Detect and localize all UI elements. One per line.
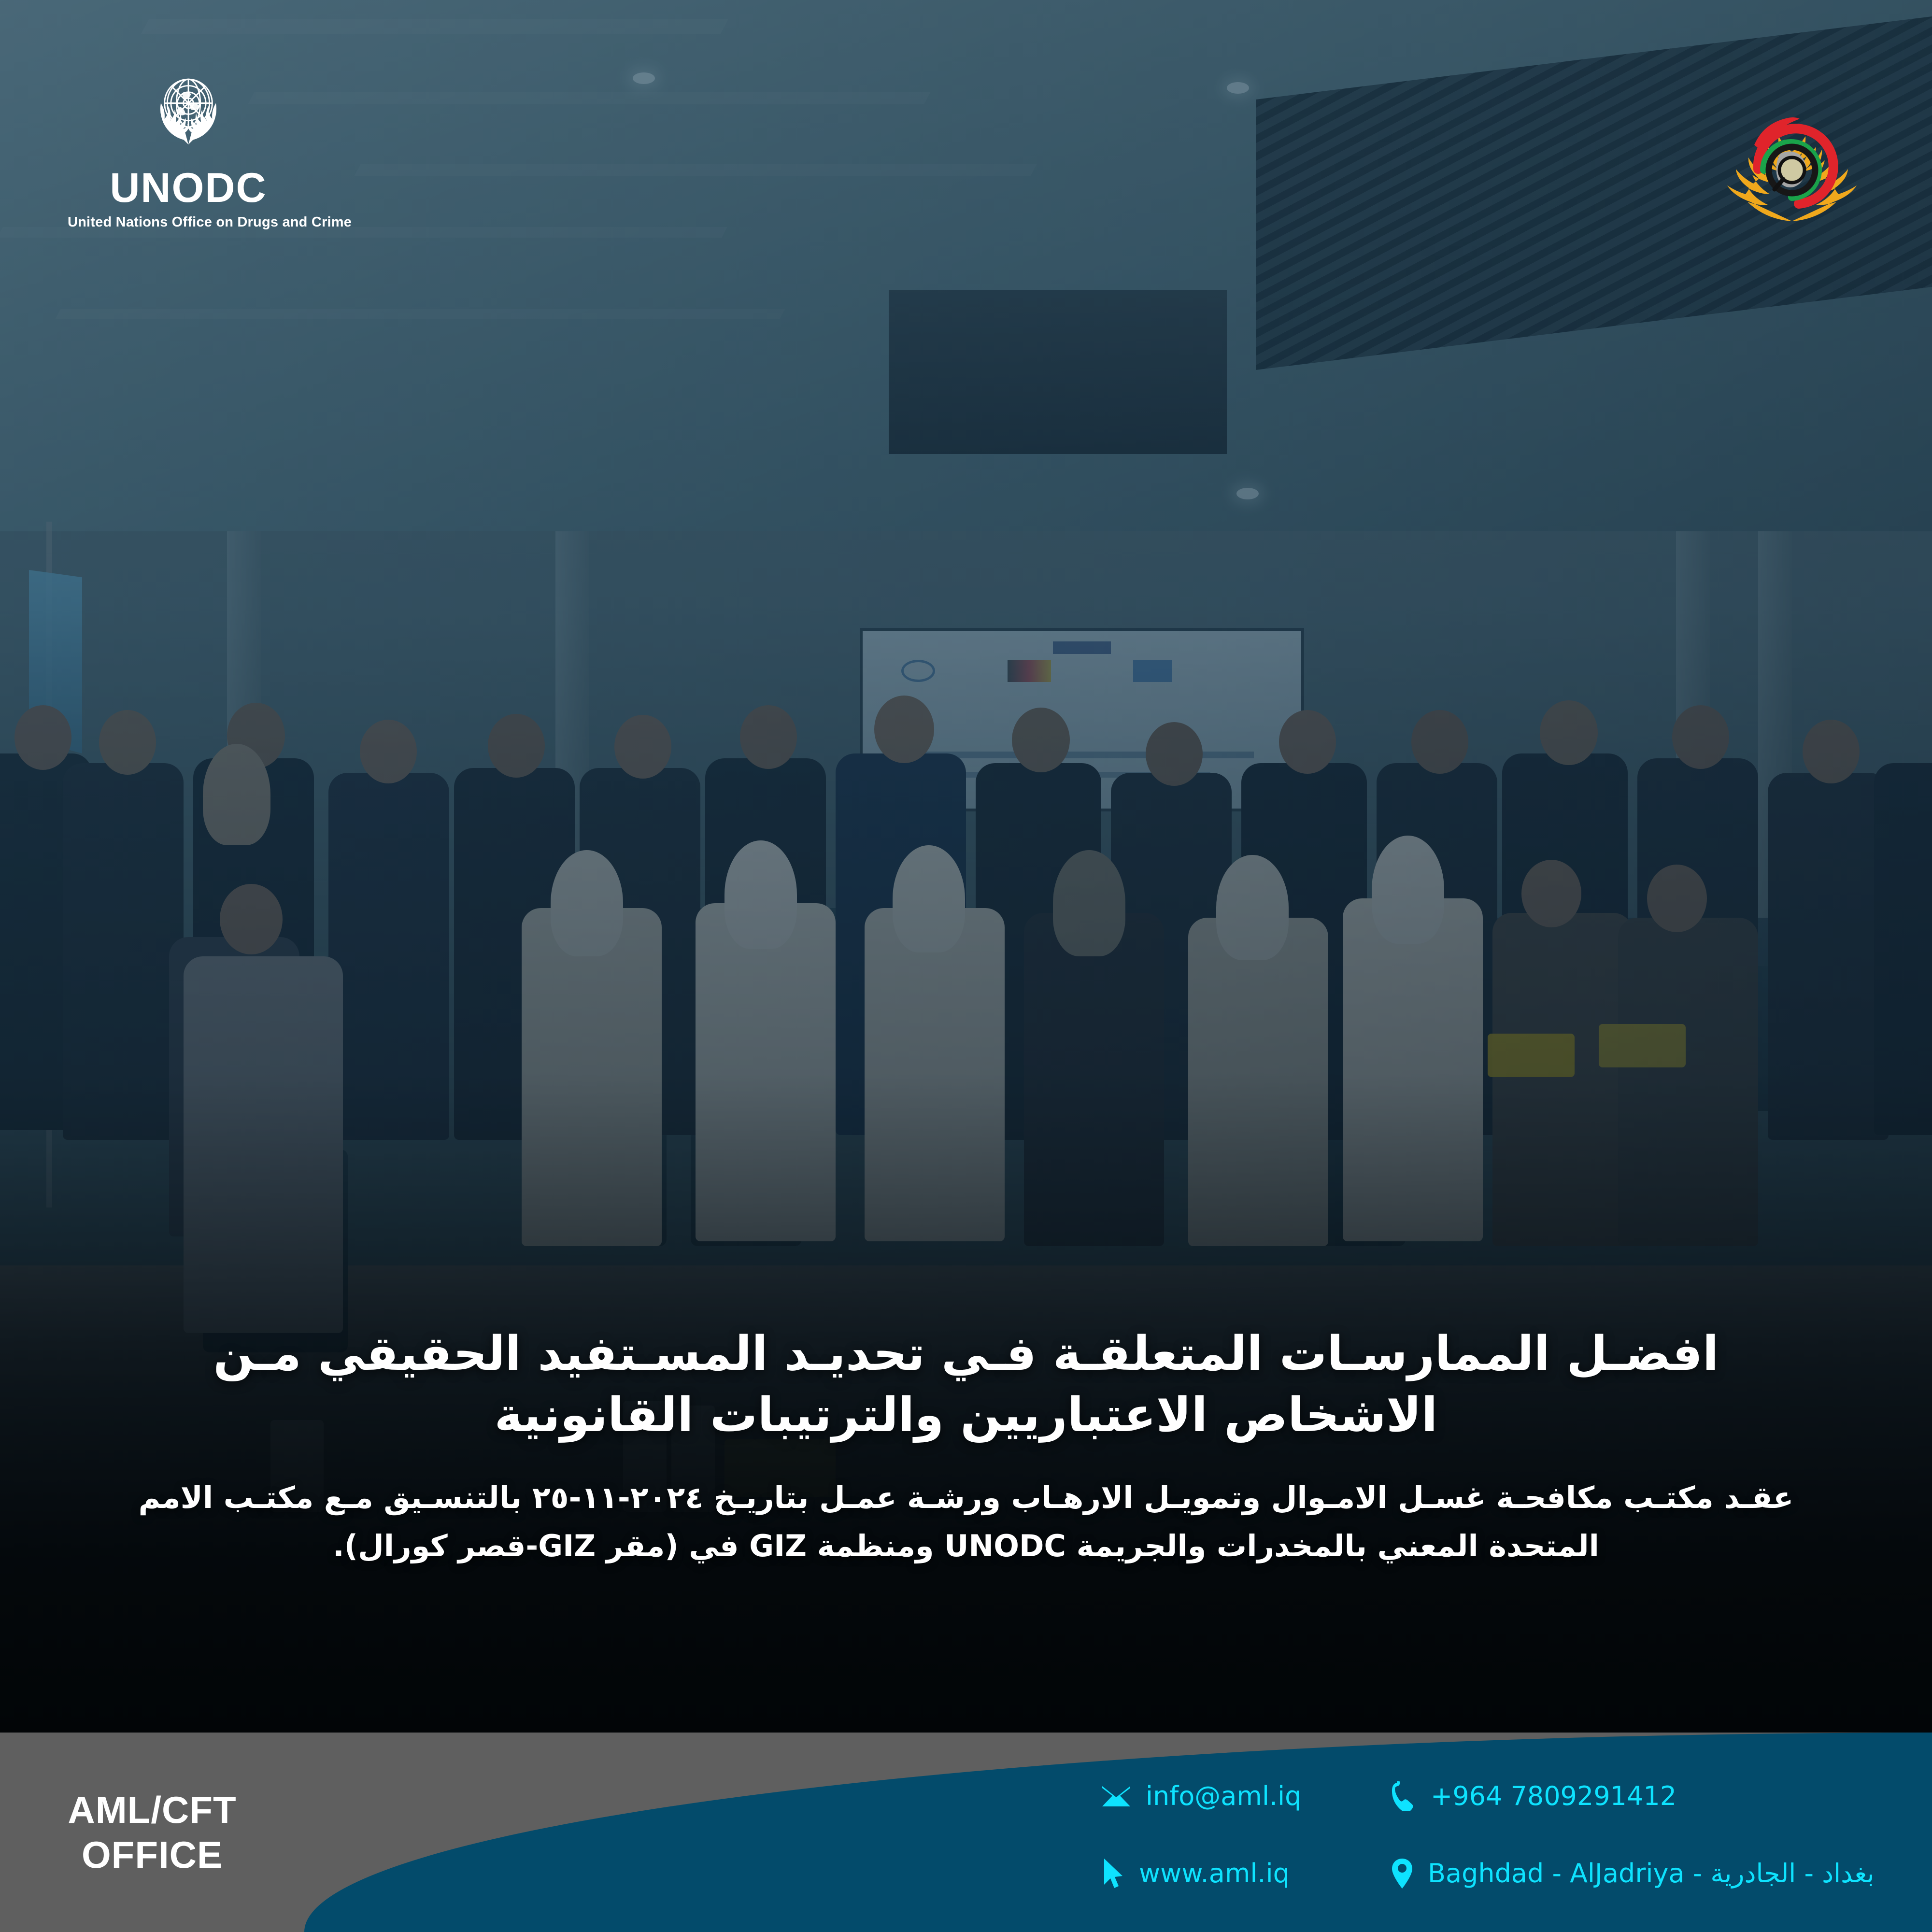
footer-bar: AML/CFT OFFICE info@aml.iq +964 78092914… xyxy=(0,1733,1932,1932)
title-line-2: الاشخاص الاعتباريين والترتيبات القانونية xyxy=(495,1388,1438,1443)
unodc-logo: UNODC United Nations Office on Drugs and… xyxy=(68,63,309,230)
aml-cft-office-emblem-icon xyxy=(1710,68,1874,232)
title-line-1: افضـل الممارسـات المتعلقـة فـي تحديـد ال… xyxy=(213,1326,1719,1381)
contact-address[interactable]: Baghdad - AlJadriya - بغداد - الجادرية xyxy=(1391,1858,1922,1889)
footer-contacts: info@aml.iq +964 7809291412 www.aml.iq xyxy=(1101,1758,1922,1912)
brand-line-2: OFFICE xyxy=(82,1833,223,1877)
unodc-acronym: UNODC xyxy=(68,167,309,209)
announcement-description: عقـد مكتـب مكافحـة غسـل الامـوال وتمويـل… xyxy=(121,1474,1811,1571)
contact-email[interactable]: info@aml.iq xyxy=(1101,1783,1391,1809)
poster-canvas: UNODC United Nations Office on Drugs and… xyxy=(0,0,1932,1932)
contact-address-label: Baghdad - AlJadriya - بغداد - الجادرية xyxy=(1428,1861,1875,1887)
contact-website-label: www.aml.iq xyxy=(1139,1861,1290,1887)
un-emblem-icon xyxy=(142,63,234,155)
brand-line-1: AML/CFT xyxy=(68,1788,236,1832)
page-title: افضـل الممارسـات المتعلقـة فـي تحديـد ال… xyxy=(121,1323,1811,1447)
email-icon xyxy=(1101,1784,1131,1808)
contact-website[interactable]: www.aml.iq xyxy=(1101,1858,1391,1889)
footer-brand: AML/CFT OFFICE xyxy=(0,1733,304,1932)
phone-icon xyxy=(1391,1781,1416,1811)
announcement-text-block: افضـل الممارسـات المتعلقـة فـي تحديـد ال… xyxy=(0,1323,1932,1571)
contact-phone-label: +964 7809291412 xyxy=(1431,1783,1676,1809)
location-pin-icon xyxy=(1391,1858,1413,1889)
unodc-fullname: United Nations Office on Drugs and Crime xyxy=(68,214,309,230)
contact-email-label: info@aml.iq xyxy=(1146,1783,1301,1809)
cursor-icon xyxy=(1101,1858,1124,1889)
contact-phone[interactable]: +964 7809291412 xyxy=(1391,1781,1922,1811)
description-line-1: عقـد مكتـب مكافحـة غسـل الامـوال وتمويـل… xyxy=(224,1480,1794,1515)
